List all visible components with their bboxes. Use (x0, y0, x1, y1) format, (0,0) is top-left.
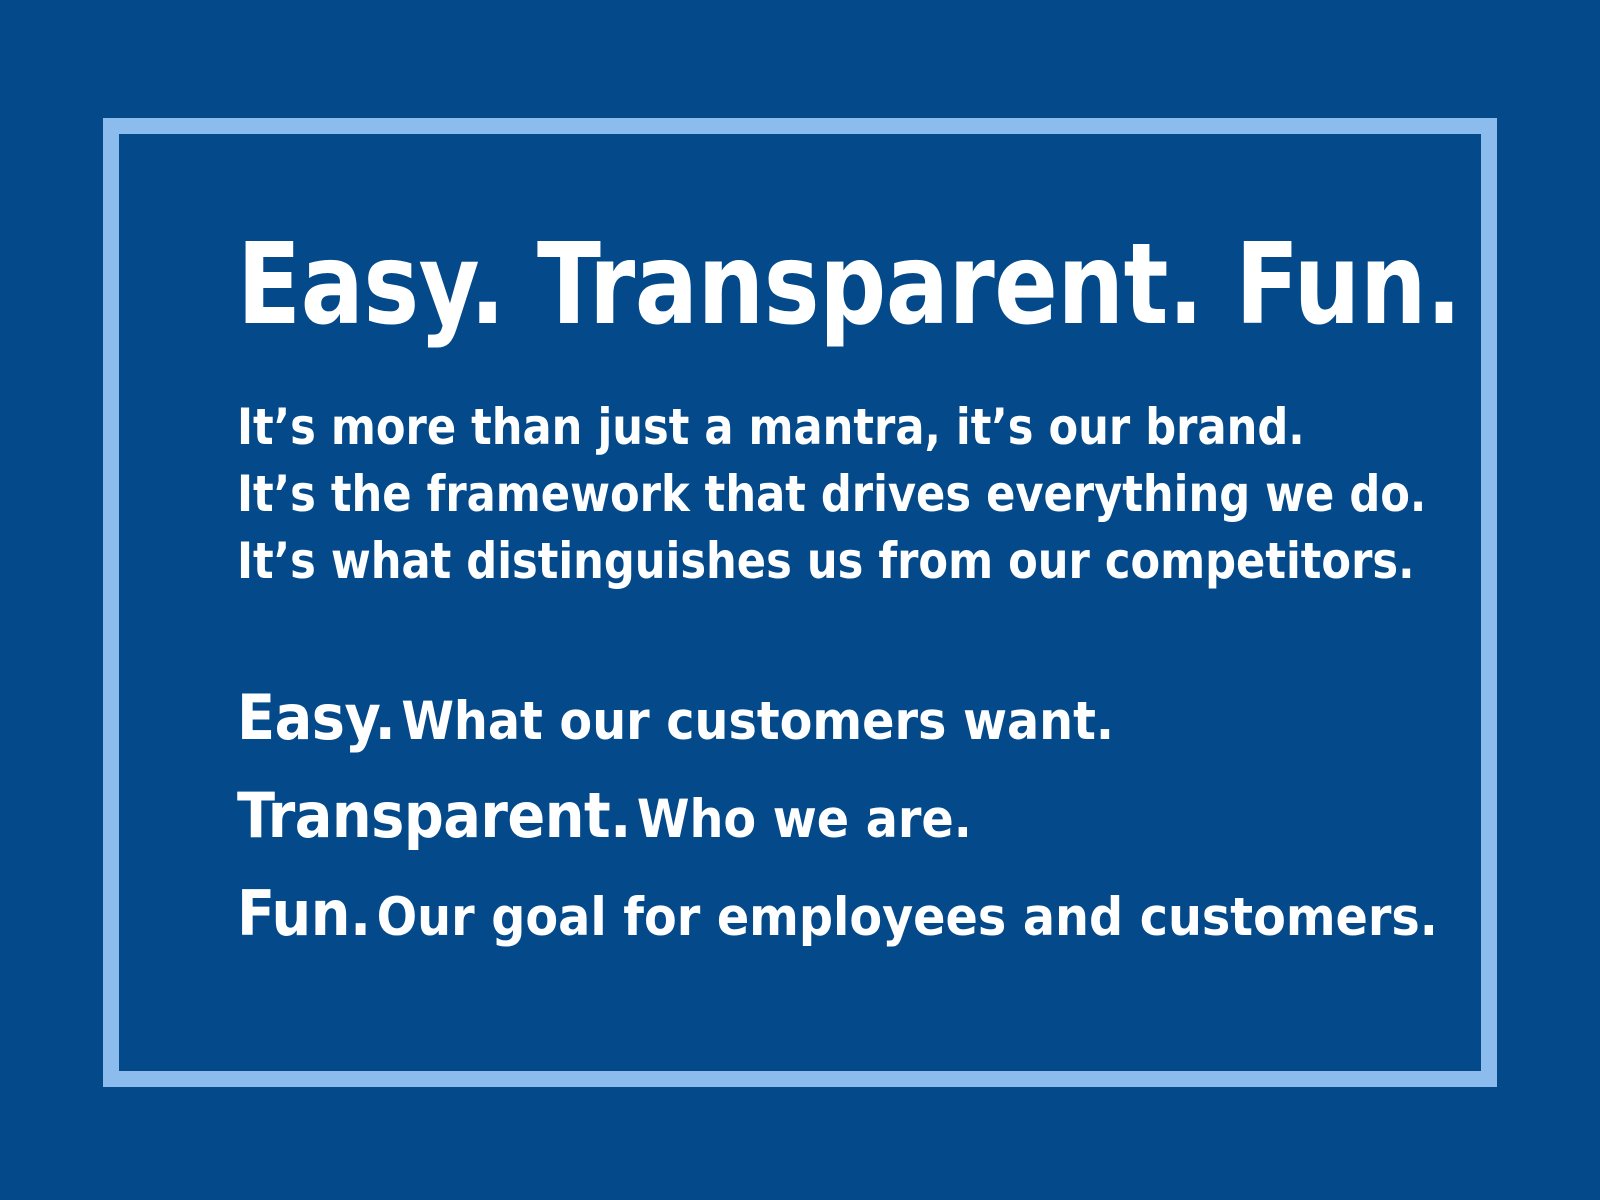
page-title: Easy. Transparent. Fun. (237, 228, 1316, 342)
pillar-term-easy: Easy. (237, 681, 395, 754)
pillar-description-fun: Our goal for employees and customers. (377, 887, 1438, 948)
intro-paragraph: It’s more than just a mantra, it’s our b… (237, 394, 1397, 595)
pillar-item-transparent: Transparent.Who we are. (237, 775, 1397, 873)
pillar-term-transparent: Transparent. (237, 779, 631, 852)
intro-line-2: It’s the framework that drives everythin… (237, 461, 1351, 528)
slide-content: Easy. Transparent. Fun. It’s more than j… (237, 228, 1397, 971)
slide-canvas: Easy. Transparent. Fun. It’s more than j… (0, 0, 1600, 1200)
pillar-item-fun: Fun.Our goal for employees and customers… (237, 873, 1397, 971)
pillar-description-transparent: Who we are. (637, 789, 972, 850)
pillar-list: Easy.What our customers want. Transparen… (237, 677, 1397, 971)
intro-line-1: It’s more than just a mantra, it’s our b… (237, 394, 1351, 461)
pillar-term-fun: Fun. (237, 877, 371, 950)
pillar-description-easy: What our customers want. (401, 691, 1114, 752)
section-spacer (237, 595, 1397, 677)
intro-line-3: It’s what distinguishes us from our comp… (237, 528, 1351, 595)
pillar-item-easy: Easy.What our customers want. (237, 677, 1397, 775)
